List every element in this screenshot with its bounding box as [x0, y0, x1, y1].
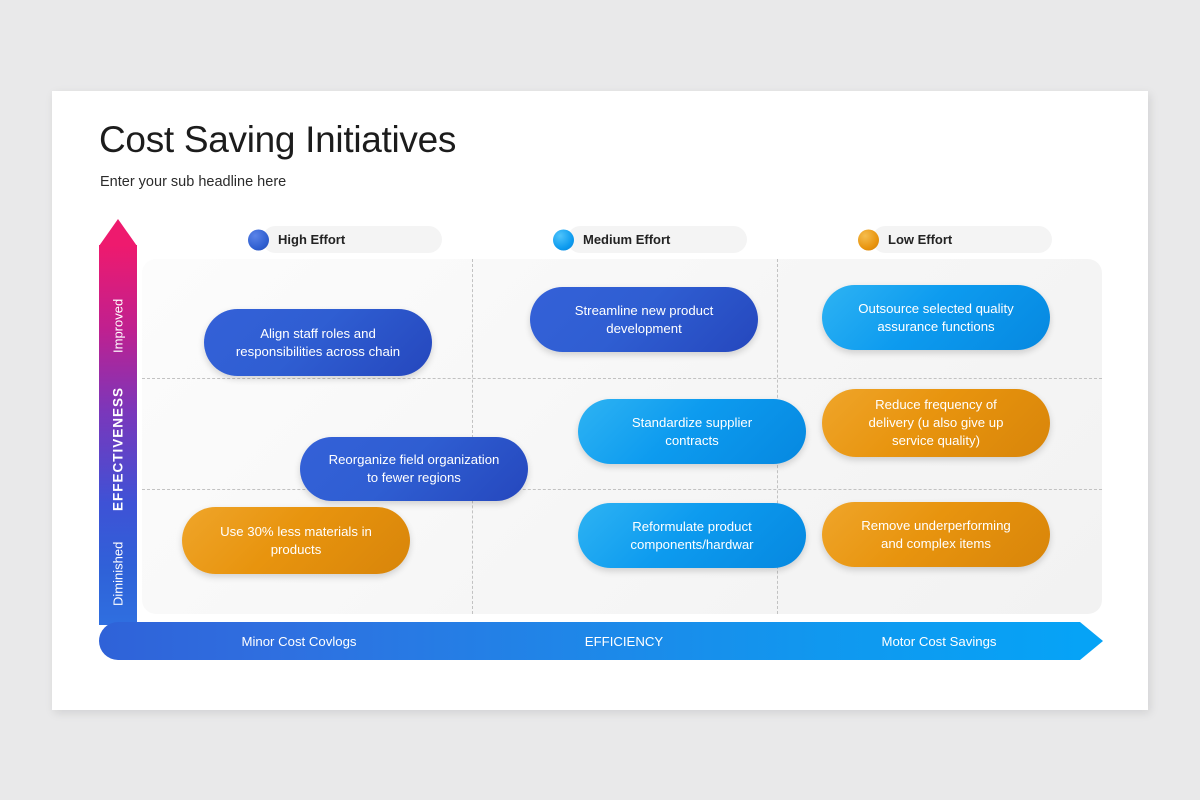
- grid-line-horizontal: [142, 489, 1102, 490]
- legend-item-low-effort[interactable]: Low Effort: [872, 226, 1052, 253]
- initiative-pill[interactable]: Align staff roles and responsibilities a…: [204, 309, 432, 376]
- effectiveness-bottom-label: Diminished: [99, 524, 137, 624]
- initiative-pill[interactable]: Use 30% less materials in products: [182, 507, 410, 574]
- initiative-pill[interactable]: Standardize supplier contracts: [578, 399, 806, 464]
- initiative-pill[interactable]: Outsource selected quality assurance fun…: [822, 285, 1050, 350]
- initiative-pill[interactable]: Streamline new product development: [530, 287, 758, 352]
- page-title: Cost Saving Initiatives: [99, 119, 456, 161]
- effectiveness-top-label: Improved: [99, 271, 137, 381]
- efficiency-axis-arrow: Minor Cost Covlogs EFFICIENCY Motor Cost…: [99, 622, 1103, 660]
- legend-label-low-effort: Low Effort: [888, 232, 952, 247]
- slide-card: Cost Saving Initiatives Enter your sub h…: [52, 91, 1148, 710]
- initiative-pill[interactable]: Reorganize field organization to fewer r…: [300, 437, 528, 501]
- grid-line-horizontal: [142, 378, 1102, 379]
- initiative-pill[interactable]: Reduce frequency of delivery (u also giv…: [822, 389, 1050, 457]
- arrow-head-right-icon: [1080, 622, 1103, 660]
- legend-label-high-effort: High Effort: [278, 232, 345, 247]
- legend-item-medium-effort[interactable]: Medium Effort: [567, 226, 747, 253]
- arrow-head-up-icon: [99, 219, 137, 246]
- initiative-pill[interactable]: Remove underperforming and complex items: [822, 502, 1050, 567]
- circle-marker-icon: [248, 229, 269, 250]
- effectiveness-axis-title: EFFECTIVENESS: [99, 384, 137, 514]
- efficiency-right-label: Motor Cost Savings: [829, 622, 1049, 660]
- page-subtitle: Enter your sub headline here: [100, 174, 286, 190]
- legend-item-high-effort[interactable]: High Effort: [262, 226, 442, 253]
- effectiveness-axis-arrow: Improved EFFECTIVENESS Diminished: [99, 219, 137, 625]
- initiative-pill[interactable]: Reformulate product components/hardwar: [578, 503, 806, 568]
- circle-marker-icon: [858, 229, 879, 250]
- circle-marker-icon: [553, 229, 574, 250]
- efficiency-left-label: Minor Cost Covlogs: [189, 622, 409, 660]
- legend-label-medium-effort: Medium Effort: [583, 232, 670, 247]
- matrix-panel: Align staff roles and responsibilities a…: [142, 259, 1102, 614]
- efficiency-axis-title: EFFICIENCY: [514, 622, 734, 660]
